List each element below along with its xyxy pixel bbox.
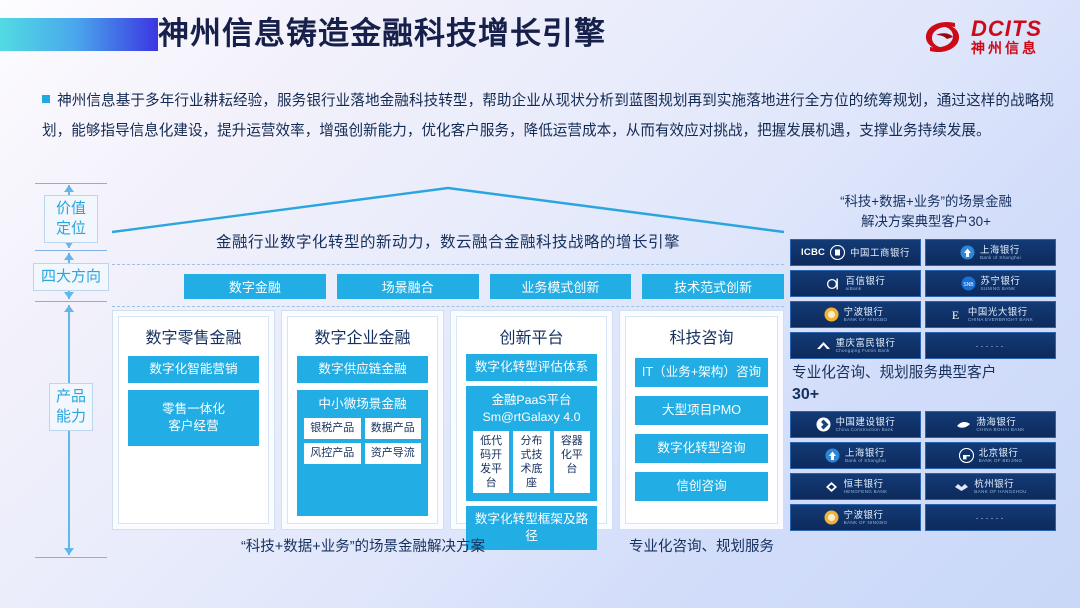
enterprise-chip-1-label: 数据产品 [371,422,415,434]
client-heading-solution: “科技+数据+业务”的场景金融 解决方案典型客户30+ [790,188,1062,239]
rail-divider [35,183,107,184]
client-logo-name-en: BANK OF BEIJING [979,459,1023,464]
client-logo-name-cn: 杭州银行 [974,479,1027,488]
enterprise-block-0[interactable]: 数字供应链金融 [297,356,428,383]
page-title: 神州信息铸造金融科技增长引擎 [158,8,606,60]
center-slogan: 金融行业数字化转型的新动力，数云融合金融科技战略的增长引擎 [112,230,784,252]
client-logo-prefix: ICBC [801,247,825,258]
consulting-block-3-label: 信创咨询 [676,478,726,495]
enterprise-chip-0-label: 银税产品 [310,422,354,434]
client-logo-name-cn: 北京银行 [979,448,1023,457]
direction-pill-0-label: 数字金融 [229,277,281,296]
client-logo-name-en: BANK OF NINGBO [844,521,888,526]
rail-label-capability-text: 产品能力 [56,388,86,425]
ningbo-bank-logo [824,510,839,525]
innovation-group-paas-title: 金融PaaS平台 Sm@rtGalaxy 4.0 [473,392,590,426]
client-logo-ccb-logo: 中国建设银行China Construction Bank [790,411,921,438]
client-heading-consulting: 专业化咨询、规划服务典型客户 30+ [790,359,1062,411]
ellipsis-icon: ······ [976,513,1006,523]
product-column-innovation[interactable]: 创新平台 数字化转型评估体系 金融PaaS平台 Sm@rtGalaxy 4.0 … [450,310,613,530]
hangzhou-bank-logo [954,479,969,494]
client-logo-beijing-bank-logo: 北京银行BANK OF BEIJING [925,442,1056,469]
dashed-divider-bottom [112,306,784,307]
client-logo-shanghai-bank-logo: 上海银行Bank of Shanghai [790,442,921,469]
client-panel: “科技+数据+业务”的场景金融 解决方案典型客户30+ ICBC中国工商银行上海… [790,188,1062,558]
dcits-logo-cn: 神州信息 [971,40,1042,57]
client-logo-text: 上海银行Bank of Shanghai [845,448,886,464]
client-logo-text: 上海银行Bank of Shanghai [980,245,1021,261]
client-logo-grid-bottom: 中国建设银行China Construction Bank渤海银行CHINA B… [790,411,1062,531]
client-logo-name-cn: 宁波银行 [844,307,888,316]
client-logo-text: 百信银行aiBank [846,276,886,292]
client-logo-name-en: Bank of Shanghai [845,459,886,464]
client-logo-name-en: Bank of Shanghai [980,256,1021,261]
client-logo-name-cn: 上海银行 [845,448,886,457]
enterprise-block-0-label: 数字供应链金融 [318,361,406,378]
ellipsis-icon: ······ [976,341,1006,351]
client-logo-icbc-logo: ICBC中国工商银行 [790,239,921,266]
client-logo-text: 重庆富民银行Chongqing Fumin Bank [836,338,896,354]
direction-pill-0[interactable]: 数字金融 [184,274,326,299]
dcits-logo-en: DCITS [971,18,1042,40]
client-logo-text: 宁波银行BANK OF NINGBO [844,510,888,526]
client-logo-ningbo-bank-logo: 宁波银行BANK OF NINGBO [790,301,921,328]
client-logo-name-cn: 中国建设银行 [836,417,896,426]
ningbo-bank-logo [824,307,839,322]
column-title-enterprise: 数字企业金融 [297,324,428,348]
enterprise-chip-row: 银税产品 数据产品 风控产品 资产导流 [304,418,421,464]
client-logo-name-cn: 宁波银行 [844,510,888,519]
icbc-logo [830,245,845,260]
enterprise-group-sme-title: 中小微场景金融 [304,396,421,413]
four-directions-row: 数字金融 场景融合 业务模式创新 技术范式创新 [184,274,784,299]
client-logo-everbright-bank-logo: E中国光大银行CHINA EVERBRIGHT BANK [925,301,1056,328]
fumin-bank-logo [816,338,831,353]
consulting-block-1[interactable]: 大型项目PMO [635,396,768,425]
client-logo-name-en: China Construction Bank [836,428,896,433]
retail-block-1[interactable]: 零售一体化 客户经营 [128,390,259,446]
innovation-block-0-label: 数字化转型评估体系 [475,359,588,376]
enterprise-chip-3[interactable]: 资产导流 [365,443,422,464]
client-logo-text: 杭州银行BANK OF HANGZHOU [974,479,1027,495]
client-logo-name-cn: 苏宁银行 [981,276,1021,285]
client-logo-text: 渤海银行CHINA BOHAI BANK [976,417,1024,433]
aibank-logo [826,276,841,291]
enterprise-group-sme[interactable]: 中小微场景金融 银税产品 数据产品 风控产品 资产导流 [297,390,428,516]
rail-label-value-text: 价值定位 [56,200,86,237]
dcits-swirl-icon [922,17,964,57]
client-logo-text: 苏宁银行SUNING BANK [981,276,1021,292]
product-column-retail[interactable]: 数字零售金融 数字化智能营销 零售一体化 客户经营 [112,310,275,530]
client-logo-name-en: BANK OF NINGBO [844,318,888,323]
client-logo-hangzhou-bank-logo: 杭州银行BANK OF HANGZHOU [925,473,1056,500]
roof-chevron-icon [112,186,784,234]
client-heading-consulting-text: 专业化咨询、规划服务典型客户 [792,365,996,381]
left-rail: 价值定位 四大方向 产品能力 [33,183,109,558]
center-panel: 金融行业数字化转型的新动力，数云融合金融科技战略的增长引擎 数字金融 场景融合 … [112,186,784,558]
caption-consulting-service: 专业化咨询、规划服务 [619,535,784,556]
product-column-consulting[interactable]: 科技咨询 IT（业务+架构）咨询 大型项目PMO 数字化转型咨询 信创咨询 [619,310,784,530]
dashed-divider-top [112,264,784,265]
client-logo-text: 宁波银行BANK OF NINGBO [844,307,888,323]
client-logo-aibank-logo: 百信银行aiBank [790,270,921,297]
rail-label-directions: 四大方向 [33,263,109,291]
client-logo-grid-top: ICBC中国工商银行上海银行Bank of Shanghai百信银行aiBank… [790,239,1062,359]
column-title-consulting: 科技咨询 [635,324,768,348]
client-logo-suning-bank-logo: SNB苏宁银行SUNING BANK [925,270,1056,297]
innovation-chip-row: 低代码开发平台 分布式技术底座 容器化平台 [473,431,590,493]
shanghai-bank-logo [960,245,975,260]
retail-block-0-label: 数字化智能营销 [149,361,237,378]
client-logo-name-en: CHINA EVERBRIGHT BANK [968,318,1033,323]
innovation-chip-0-label: 低代码开发平台 [480,435,502,489]
shanghai-bank-logo [825,448,840,463]
client-logo-text: 恒丰银行HENGFENG BANK [844,479,888,495]
caption-scenario-solution: “科技+数据+业务”的场景金融解决方案 [112,535,614,556]
everbright-bank-logo: E [948,307,963,322]
enterprise-chip-1[interactable]: 数据产品 [365,418,422,439]
client-logo-ningbo-bank-logo: 宁波银行BANK OF NINGBO [790,504,921,531]
client-logo-hengfeng-bank-logo: 恒丰银行HENGFENG BANK [790,473,921,500]
bullet-icon [42,95,50,103]
client-logo-name-cn: 百信银行 [846,276,886,285]
client-logo-name-cn: 重庆富民银行 [836,338,896,347]
consulting-block-0[interactable]: IT（业务+架构）咨询 [635,358,768,387]
client-logo-name-cn: 中国工商银行 [850,248,910,257]
client-logo-text: 中国光大银行CHINA EVERBRIGHT BANK [968,307,1033,323]
intro-text: 神州信息基于多年行业耕耘经验，服务银行业落地金融科技转型，帮助企业从现状分析到蓝… [42,93,1054,139]
client-logo-name-en: CHINA BOHAI BANK [976,428,1024,433]
innovation-chip-1-label: 分布式技术底座 [520,435,542,489]
rail-label-directions-text: 四大方向 [41,268,101,285]
title-accent-bar [0,18,158,51]
direction-pill-2[interactable]: 业务模式创新 [490,274,632,299]
dcits-wordmark: DCITS 神州信息 [971,18,1042,57]
rail-divider [35,301,107,302]
svg-text:SNB: SNB [963,282,974,288]
client-logo-name-en: SUNING BANK [981,287,1021,292]
svg-text:E: E [952,308,959,322]
rail-label-value: 价值定位 [44,195,98,243]
enterprise-chip-2-label: 风控产品 [310,447,354,459]
client-logo-text: 中国工商银行 [850,248,910,257]
column-title-retail: 数字零售金融 [128,324,259,348]
client-logo-text: 北京银行BANK OF BEIJING [979,448,1023,464]
innovation-chip-0[interactable]: 低代码开发平台 [473,431,509,493]
client-logo-more: ······ [925,504,1056,531]
client-logo-fumin-bank-logo: 重庆富民银行Chongqing Fumin Bank [790,332,921,359]
innovation-chip-2[interactable]: 容器化平台 [554,431,590,493]
hengfeng-bank-logo [824,479,839,494]
product-column-enterprise[interactable]: 数字企业金融 数字供应链金融 中小微场景金融 银税产品 数据产品 风控产品 资产… [281,310,444,530]
page-header: 神州信息铸造金融科技增长引擎 DCITS 神州信息 [0,0,1080,72]
client-heading-consulting-count: 30+ [792,386,819,403]
rail-divider [35,250,107,251]
client-logo-name-cn: 渤海银行 [976,417,1024,426]
enterprise-chip-2[interactable]: 风控产品 [304,443,361,464]
consulting-block-2-label: 数字化转型咨询 [657,440,745,457]
intro-paragraph: 神州信息基于多年行业耕耘经验，服务银行业落地金融科技转型，帮助企业从现状分析到蓝… [42,86,1054,146]
client-logo-name-en: BANK OF HANGZHOU [974,490,1027,495]
client-logo-bohai-bank-logo: 渤海银行CHINA BOHAI BANK [925,411,1056,438]
consulting-block-2[interactable]: 数字化转型咨询 [635,434,768,463]
client-logo-shanghai-bank-logo: 上海银行Bank of Shanghai [925,239,1056,266]
enterprise-chip-3-label: 资产导流 [371,447,415,459]
client-logo-name-cn: 中国光大银行 [968,307,1033,316]
consulting-block-1-label: 大型项目PMO [662,402,741,419]
beijing-bank-logo [959,448,974,463]
consulting-block-0-label: IT（业务+架构）咨询 [642,364,761,381]
suning-bank-logo: SNB [961,276,976,291]
direction-pill-3[interactable]: 技术范式创新 [642,274,784,299]
client-logo-name-en: Chongqing Fumin Bank [836,349,896,354]
product-columns: 数字零售金融 数字化智能营销 零售一体化 客户经营 数字企业金融 数字供应链金融… [112,310,784,558]
client-logo-name-cn: 恒丰银行 [844,479,888,488]
client-logo-name-cn: 上海银行 [980,245,1021,254]
column-title-innovation: 创新平台 [466,324,597,348]
bohai-bank-logo [956,417,971,432]
rail-divider [35,557,107,558]
enterprise-chip-0[interactable]: 银税产品 [304,418,361,439]
innovation-chip-2-label: 容器化平台 [561,435,583,475]
client-logo-name-en: HENGFENG BANK [844,490,888,495]
innovation-chip-1[interactable]: 分布式技术底座 [513,431,549,493]
direction-pill-1-label: 场景融合 [382,277,434,296]
client-logo-text: 中国建设银行China Construction Bank [836,417,896,433]
retail-block-0[interactable]: 数字化智能营销 [128,356,259,383]
rail-label-capability: 产品能力 [49,383,93,431]
ccb-logo [816,417,831,432]
direction-pill-2-label: 业务模式创新 [521,277,599,296]
client-logo-more: ······ [925,332,1056,359]
innovation-block-0[interactable]: 数字化转型评估体系 [466,354,597,381]
consulting-block-3[interactable]: 信创咨询 [635,472,768,501]
innovation-group-paas[interactable]: 金融PaaS平台 Sm@rtGalaxy 4.0 低代码开发平台 分布式技术底座… [466,386,597,501]
direction-pill-3-label: 技术范式创新 [674,277,752,296]
direction-pill-1[interactable]: 场景融合 [337,274,479,299]
retail-block-1-label: 零售一体化 客户经营 [162,401,225,435]
dcits-logo: DCITS 神州信息 [922,14,1042,60]
client-logo-name-en: aiBank [846,287,886,292]
